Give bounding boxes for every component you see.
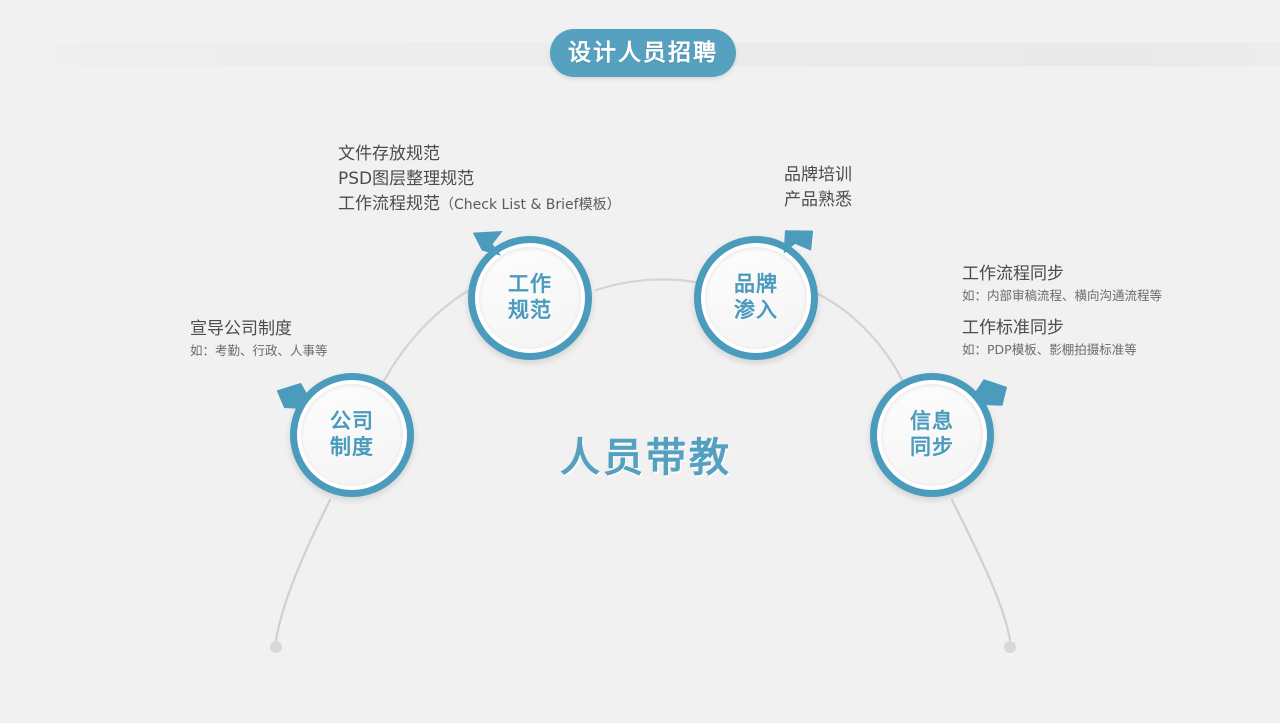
arc-right-endpoint-dot — [1004, 641, 1016, 653]
node-company-policy[interactable]: 公司 制度 — [290, 373, 414, 497]
node-inner: 公司 制度 — [301, 384, 403, 486]
node-label-line2: 制度 — [330, 435, 374, 461]
annotation-work-standards: 文件存放规范 PSD图层整理规范 工作流程规范（Check List & Bri… — [338, 142, 621, 217]
annotation-line-paren: （Check List & Brief模板） — [440, 197, 621, 213]
arc-left-tail — [276, 500, 330, 640]
annotation-information-sync: 工作流程同步 如：内部审稿流程、横向沟通流程等 工作标准同步 如：PDP模板、影… — [962, 262, 1162, 360]
node-inner: 信息 同步 — [881, 384, 983, 486]
annotation-heading: 宣导公司制度 — [190, 317, 328, 342]
node-label-line2: 规范 — [508, 298, 552, 324]
node-label-line1: 公司 — [330, 409, 374, 435]
annotation-line: 文件存放规范 — [338, 142, 621, 167]
node-information-sync[interactable]: 信息 同步 — [870, 373, 994, 497]
connector-arcs — [0, 0, 1280, 723]
annotation-detail: 如：考勤、行政、人事等 — [190, 342, 328, 361]
node-label-line2: 渗入 — [734, 298, 778, 324]
center-heading: 人员带教 — [556, 438, 736, 478]
annotation-detail: 如：内部审稿流程、横向沟通流程等 — [962, 287, 1162, 306]
node-inner: 品牌 渗入 — [705, 247, 807, 349]
node-label-line1: 信息 — [910, 409, 954, 435]
node-work-standards[interactable]: 工作 规范 — [468, 236, 592, 360]
annotation-spacer — [962, 306, 1162, 316]
annotation-detail: 如：PDP模板、影棚拍摄标准等 — [962, 341, 1162, 360]
slide-canvas: 设计人员招聘 工作 规范 品牌 渗入 — [0, 0, 1280, 723]
annotation-brand: 品牌培训 产品熟悉 — [784, 163, 852, 213]
annotation-line: PSD图层整理规范 — [338, 167, 621, 192]
annotation-heading: 工作流程同步 — [962, 262, 1162, 287]
node-label-line1: 品牌 — [734, 272, 778, 298]
annotation-line: 品牌培训 — [784, 163, 852, 188]
arc-right-tail — [952, 500, 1010, 640]
annotation-line: 工作流程规范（Check List & Brief模板） — [338, 192, 621, 217]
node-label-line1: 工作 — [508, 272, 552, 298]
annotation-company-policy: 宣导公司制度 如：考勤、行政、人事等 — [190, 317, 328, 361]
node-inner: 工作 规范 — [479, 247, 581, 349]
annotation-heading: 工作标准同步 — [962, 316, 1162, 341]
arc-left-endpoint-dot — [270, 641, 282, 653]
annotation-line: 产品熟悉 — [784, 188, 852, 213]
node-label-line2: 同步 — [910, 435, 954, 461]
annotation-line-main: 工作流程规范 — [338, 194, 440, 214]
node-brand-infiltration[interactable]: 品牌 渗入 — [694, 236, 818, 360]
